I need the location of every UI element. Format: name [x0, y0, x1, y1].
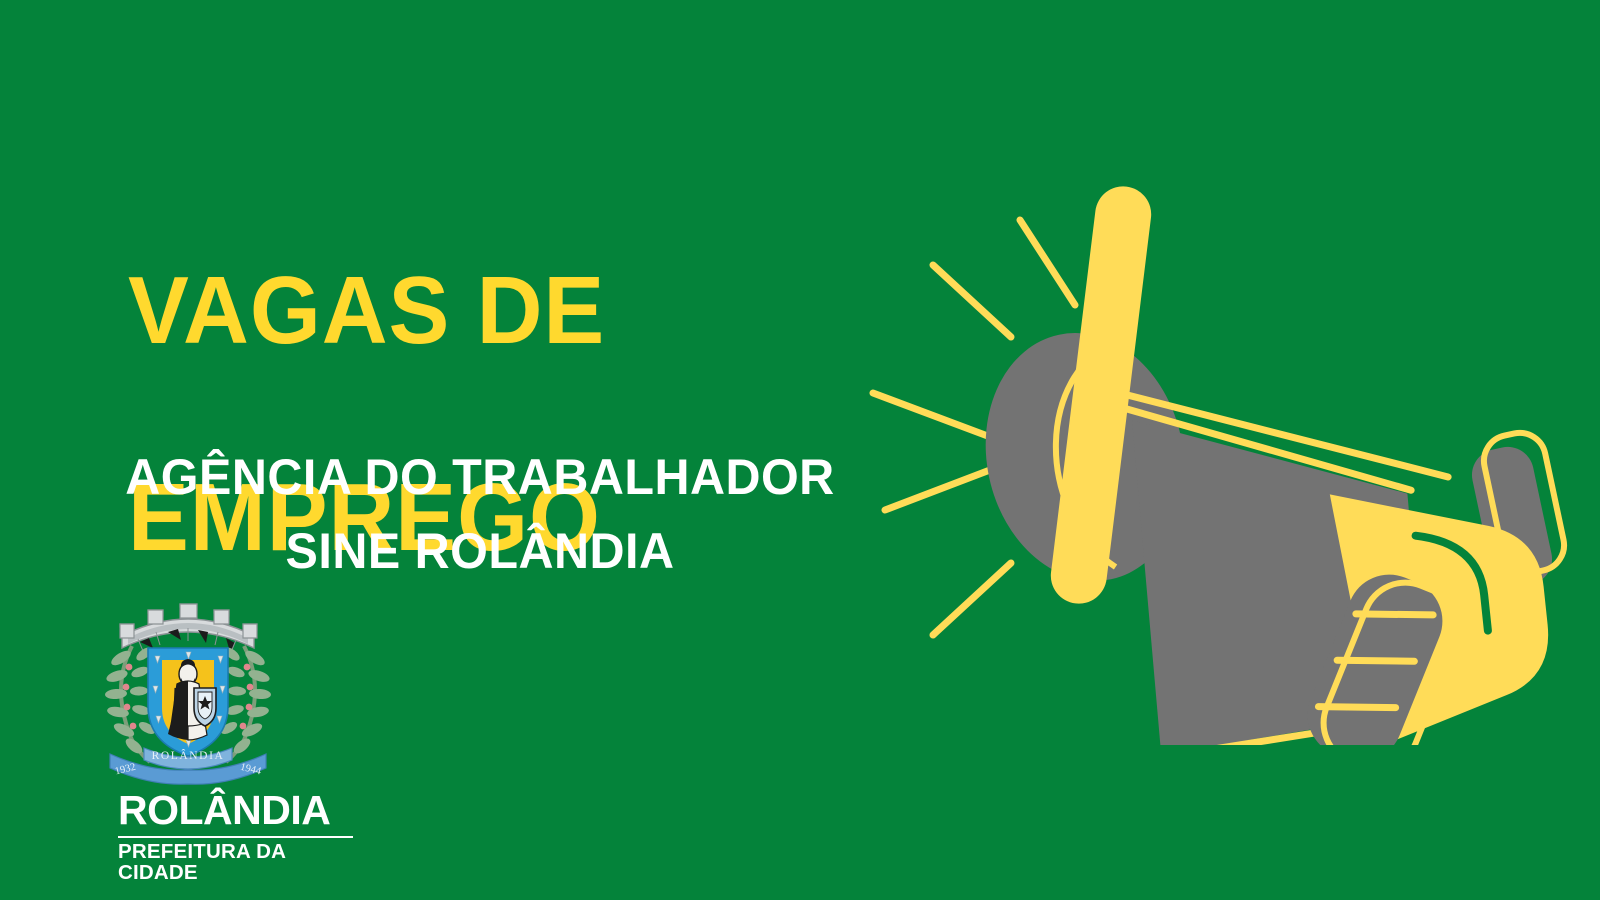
city-tagline-text: PREFEITURA DA CIDADE	[118, 842, 358, 883]
coat-of-arms-icon: ROLÂNDIA 1932 1944	[88, 592, 288, 792]
city-name-text: ROLÂNDIA	[118, 790, 358, 831]
subtitle-line-1: AGÊNCIA DO TRABALHADOR	[14, 440, 945, 514]
poster-canvas: VAGAS DE EMPREGO AGÊNCIA DO TRABALHADOR …	[0, 0, 1600, 900]
city-wordmark: ROLÂNDIA PREFEITURA DA CIDADE	[118, 790, 358, 883]
city-logo: ROLÂNDIA 1932 1944 ROLÂNDIA PREFEITURA D…	[58, 592, 318, 872]
megaphone-icon	[845, 165, 1600, 745]
page-subtitle: AGÊNCIA DO TRABALHADOR SINE ROLÂNDIA	[14, 440, 945, 588]
wordmark-divider	[118, 836, 353, 838]
headline-line-1: VAGAS DE	[128, 259, 717, 363]
crest-crown	[120, 604, 257, 652]
subtitle-line-2: SINE ROLÂNDIA	[14, 514, 945, 588]
crest-banner: ROLÂNDIA 1932 1944	[110, 748, 266, 784]
crest-banner-text: ROLÂNDIA	[152, 748, 225, 762]
crest-shield	[148, 648, 228, 756]
